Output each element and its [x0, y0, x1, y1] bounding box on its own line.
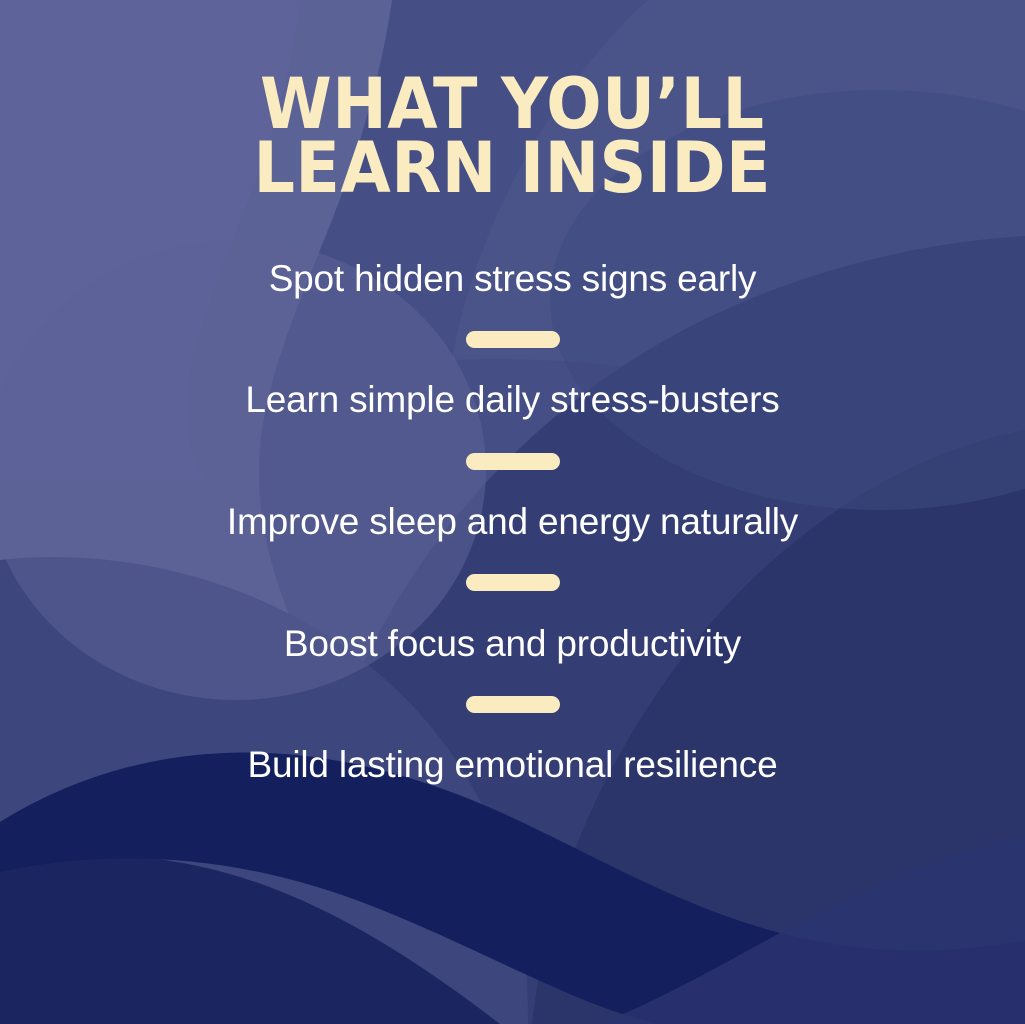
benefit-item-1: Spot hidden stress signs early: [48, 257, 977, 301]
benefit-item-5: Build lasting emotional resilience: [48, 743, 977, 787]
page-title: WHAT YOU’LL LEARN INSIDE: [234, 72, 790, 201]
benefits-list: Spot hidden stress signs early Learn sim…: [48, 257, 977, 787]
divider-pill-icon: [466, 696, 560, 713]
divider-pill-icon: [466, 574, 560, 591]
divider-pill-icon: [466, 453, 560, 470]
divider-pill-icon: [466, 331, 560, 348]
poster-content: WHAT YOU’LL LEARN INSIDE Spot hidden str…: [0, 0, 1025, 1024]
page-title-line-2: LEARN INSIDE: [254, 136, 772, 200]
benefit-item-2: Learn simple daily stress-busters: [48, 378, 977, 422]
benefit-text-3: Improve sleep and energy naturally: [48, 500, 977, 544]
benefit-text-4: Boost focus and productivity: [48, 622, 977, 666]
benefit-item-3: Improve sleep and energy naturally: [48, 500, 977, 544]
benefit-item-4: Boost focus and productivity: [48, 622, 977, 666]
benefit-divider-4: [466, 665, 560, 743]
poster-canvas: WHAT YOU’LL LEARN INSIDE Spot hidden str…: [0, 0, 1025, 1024]
benefit-text-5: Build lasting emotional resilience: [48, 743, 977, 787]
benefit-text-2: Learn simple daily stress-busters: [48, 378, 977, 422]
benefit-divider-3: [466, 544, 560, 622]
benefit-divider-2: [466, 422, 560, 500]
benefit-divider-1: [466, 300, 560, 378]
benefit-text-1: Spot hidden stress signs early: [48, 257, 977, 301]
